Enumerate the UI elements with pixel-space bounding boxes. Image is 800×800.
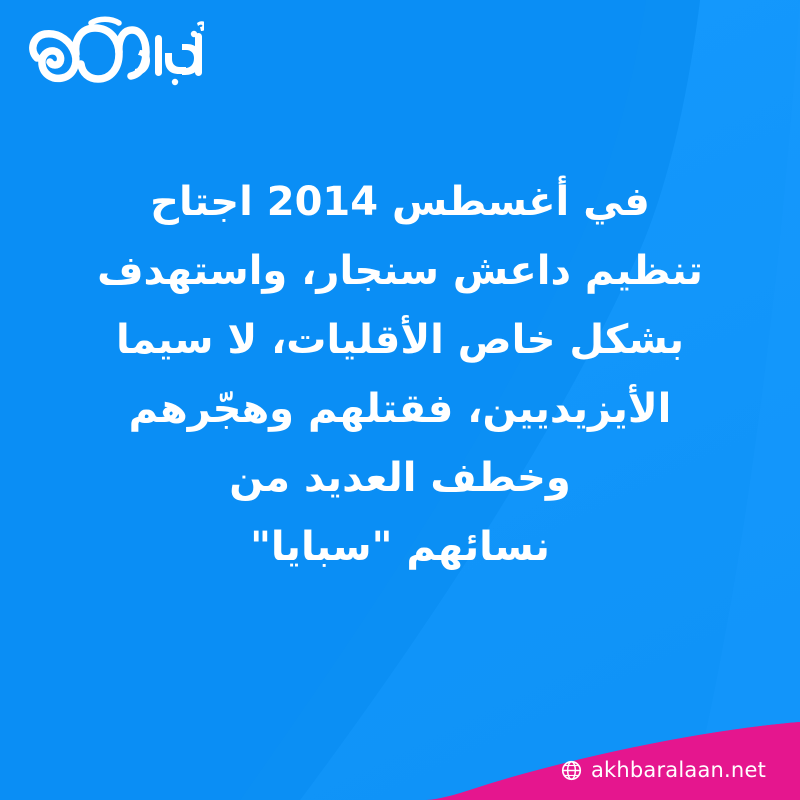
site-url[interactable]: akhbaralaan.net — [561, 758, 766, 782]
site-url-label: akhbaralaan.net — [591, 758, 766, 782]
globe-icon — [561, 760, 582, 781]
footer-wave — [0, 0, 800, 800]
social-card: في أغسطس 2014 اجتاح تنظيم داعش سنجار، وا… — [0, 0, 800, 800]
